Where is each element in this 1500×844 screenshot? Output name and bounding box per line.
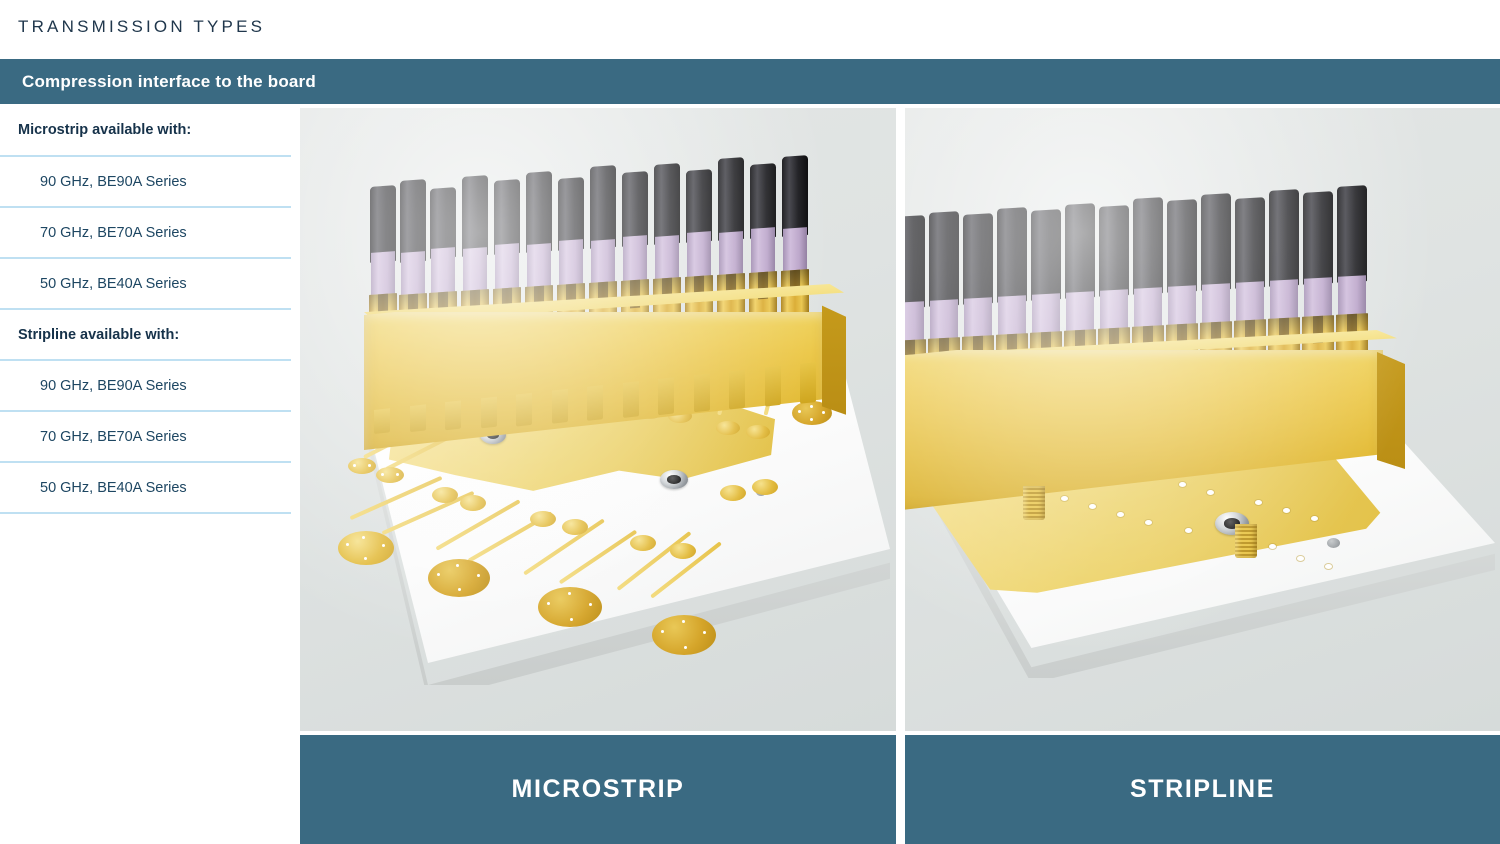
cable-jacket	[1133, 197, 1163, 295]
pcb-launch-pad	[562, 519, 588, 535]
cable-jacket	[462, 175, 488, 257]
tooth	[729, 370, 745, 410]
spec-row-label: 50 GHz, BE40A Series	[40, 276, 187, 292]
caption-group: MICROSTRIP STRIPLINE	[300, 735, 1500, 844]
pad-hole	[396, 473, 399, 476]
spec-row-label: 50 GHz, BE40A Series	[40, 480, 187, 496]
pcb-launch-pad	[720, 485, 746, 501]
tooth	[374, 408, 390, 434]
tooth	[623, 381, 639, 418]
section-banner: Compression interface to the board	[0, 59, 1500, 104]
microstrip-caption-label: MICROSTRIP	[512, 775, 685, 804]
spec-row-item: 70 GHz, BE70A Series	[0, 412, 291, 463]
pcb-via	[1061, 496, 1068, 501]
pcb-via	[1325, 564, 1332, 569]
pcb-via	[1179, 482, 1186, 487]
pad-hole	[353, 464, 356, 467]
tooth	[800, 362, 816, 404]
cable-jacket	[997, 207, 1027, 303]
pcb-launch-pad	[432, 487, 458, 503]
pcb-launch-pad	[348, 458, 376, 474]
mounting-screw-post	[1235, 524, 1257, 558]
microstrip-render-panel	[300, 108, 896, 731]
cable-jacket	[718, 157, 744, 241]
spec-row-item: 90 GHz, BE90A Series	[0, 157, 291, 208]
pad-hole	[456, 564, 459, 567]
cable-jacket	[1099, 205, 1129, 297]
spec-row-label: 90 GHz, BE90A Series	[40, 174, 187, 190]
cable-jacket	[963, 213, 993, 305]
connector-housing-side	[822, 286, 846, 426]
spec-row-label: Microstrip available with:	[18, 122, 191, 138]
pcb-flange-pad	[652, 615, 716, 655]
tooth	[445, 401, 461, 431]
pcb-coax-launch	[660, 470, 688, 489]
cable-jacket	[929, 211, 959, 307]
pad-hole	[703, 631, 706, 634]
cable-jacket	[1201, 193, 1231, 291]
pad-hole	[437, 573, 440, 576]
pcb-flange-pad	[338, 531, 394, 565]
pcb-mount-via	[1327, 538, 1340, 548]
pad-hole	[810, 418, 813, 421]
pad-hole	[364, 557, 367, 560]
pcb-via	[1311, 516, 1318, 521]
stripline-connector-assembly	[905, 108, 1415, 428]
tooth	[516, 393, 532, 427]
coax-center-pin	[667, 475, 680, 483]
pad-hole	[682, 620, 685, 623]
spec-row-item: 70 GHz, BE70A Series	[0, 208, 291, 259]
spec-row-item: 90 GHz, BE90A Series	[0, 361, 291, 412]
panel-group	[300, 108, 1500, 731]
pcb-via	[1255, 500, 1262, 505]
pad-hole	[661, 630, 664, 633]
spec-row-label: 70 GHz, BE70A Series	[40, 225, 187, 241]
section-banner-label: Compression interface to the board	[22, 72, 316, 92]
microstrip-scene	[300, 108, 896, 731]
pcb-launch-pad	[752, 479, 778, 495]
slide-root: TRANSMISSION TYPES Compression interface…	[0, 0, 1500, 844]
cable-jacket	[654, 163, 680, 245]
pcb-launch-pad	[376, 467, 404, 483]
microstrip-caption-bar: MICROSTRIP	[300, 735, 896, 844]
pcb-via	[1297, 556, 1304, 561]
pad-hole	[822, 411, 825, 414]
tooth	[481, 397, 497, 429]
pad-hole	[477, 574, 480, 577]
pcb-launch-pad	[460, 495, 486, 511]
spec-row-item: 50 GHz, BE40A Series	[0, 259, 291, 310]
cable-jacket	[1337, 185, 1367, 283]
cable-jacket	[782, 155, 808, 237]
spec-row-label: Stripline available with:	[18, 327, 179, 343]
pad-hole	[589, 603, 592, 606]
pad-hole	[346, 543, 349, 546]
pcb-launch-pad	[746, 425, 770, 439]
pcb-launch-pad	[670, 543, 696, 559]
pad-hole	[381, 473, 384, 476]
stripline-caption-label: STRIPLINE	[1130, 775, 1275, 804]
tooth	[658, 377, 674, 415]
microstrip-connector-assembly	[370, 108, 840, 404]
pad-hole	[382, 544, 385, 547]
pcb-flange-pad	[538, 587, 602, 627]
tooth	[694, 374, 710, 413]
pad-hole	[368, 464, 371, 467]
pcb-via	[1283, 508, 1290, 513]
page-title: TRANSMISSION TYPES	[18, 17, 265, 37]
pcb-launch-pad	[530, 511, 556, 527]
pad-hole	[568, 592, 571, 595]
stripline-render-panel	[905, 108, 1500, 731]
tooth	[587, 385, 603, 421]
cable-jacket	[1031, 209, 1061, 301]
pcb-via	[1269, 544, 1276, 549]
spec-row-group: Microstrip available with:	[0, 104, 291, 157]
pcb-launch-pad	[716, 421, 740, 435]
pcb-launch-pad	[630, 535, 656, 551]
cable-jacket	[1303, 191, 1333, 285]
pcb-via	[1185, 528, 1192, 533]
pad-hole	[547, 602, 550, 605]
spec-row-item: 50 GHz, BE40A Series	[0, 463, 291, 514]
cable-jacket	[1235, 197, 1265, 289]
cable-jacket	[1269, 189, 1299, 287]
cable-jacket	[1065, 203, 1095, 299]
cable-jacket	[526, 171, 552, 253]
cable-jacket	[905, 215, 925, 309]
cable-jacket	[1167, 199, 1197, 293]
pcb-via	[1117, 512, 1124, 517]
pad-hole	[570, 618, 573, 621]
pcb-via	[1089, 504, 1096, 509]
pcb-via	[1145, 520, 1152, 525]
spec-table: Microstrip available with: 90 GHz, BE90A…	[0, 104, 291, 519]
stripline-scene	[905, 108, 1500, 731]
spec-row-group: Stripline available with:	[0, 310, 291, 361]
stripline-caption-bar: STRIPLINE	[905, 735, 1500, 844]
tooth	[410, 404, 426, 432]
spec-row-label: 90 GHz, BE90A Series	[40, 378, 187, 394]
mounting-screw-post	[1023, 486, 1045, 520]
cable-jacket	[590, 165, 616, 249]
pad-hole	[458, 588, 461, 591]
pcb-flange-pad	[428, 559, 490, 597]
pcb-via	[1207, 490, 1214, 495]
tooth	[552, 389, 568, 424]
spec-row-label: 70 GHz, BE70A Series	[40, 429, 187, 445]
tooth	[765, 366, 781, 407]
pad-hole	[362, 536, 365, 539]
pad-hole	[684, 646, 687, 649]
